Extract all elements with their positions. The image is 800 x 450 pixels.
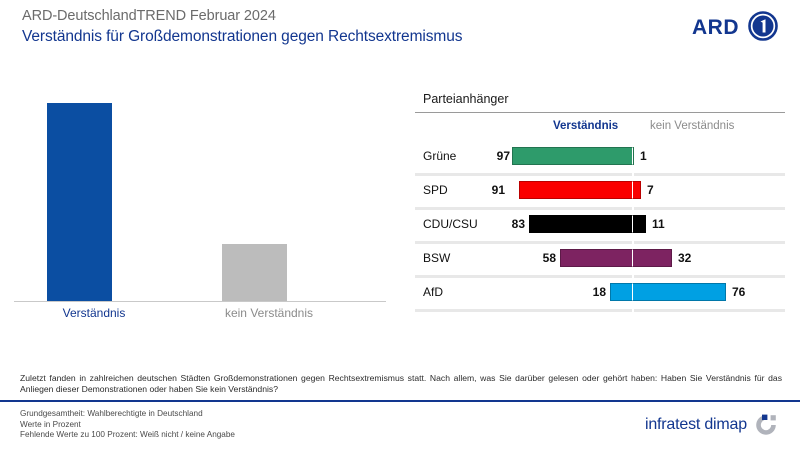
party-panel: Parteianhänger Verständnis kein Verständ… — [415, 92, 785, 312]
party-row-bsw: BSW 58 32 — [415, 241, 785, 275]
legend-item-verstaendnis: Verständnis — [553, 120, 618, 132]
page-title: Verständnis für Großdemonstrationen gege… — [22, 28, 462, 46]
party-row-afd: AfD 18 76 — [415, 275, 785, 309]
party-right-value-gruene: 1 — [640, 149, 647, 163]
chart-baseline — [14, 301, 386, 302]
party-label-afd: AfD — [423, 285, 443, 299]
party-right-value-afd: 76 — [732, 285, 745, 299]
party-right-value-spd: 7 — [647, 183, 654, 197]
row-separator — [415, 207, 785, 210]
row-separator — [415, 275, 785, 278]
party-label-bsw: BSW — [423, 251, 450, 265]
party-left-value-bsw: 58 — [501, 251, 556, 265]
survey-question: Zuletzt fanden in zahlreichen deutschen … — [20, 373, 782, 395]
party-left-bar-spd — [519, 181, 632, 199]
chart-axis-labels: Verständnis kein Verständnis — [14, 304, 386, 324]
party-left-value-afd: 18 — [551, 285, 606, 299]
legend-item-kein-verstaendnis: kein Verständnis — [650, 120, 734, 132]
party-left-bar-gruene — [512, 147, 632, 165]
party-right-bar-cducsu — [632, 215, 646, 233]
header-kicker: ARD-DeutschlandTREND Februar 2024 — [22, 8, 276, 24]
party-row-spd: SPD 91 7 — [415, 173, 785, 207]
svg-text:ARD: ARD — [692, 16, 739, 39]
party-left-value-spd: 91 — [450, 183, 505, 197]
party-right-value-cducsu: 11 — [652, 217, 665, 231]
infratest-dimap-label: infratest dimap — [645, 416, 747, 434]
footer-notes: Grundgesamtheit: Wahlberechtigte in Deut… — [20, 409, 235, 441]
bar-kein-verstaendnis — [222, 244, 287, 301]
party-right-bar-gruene — [632, 147, 634, 165]
footer-divider — [0, 400, 800, 402]
party-right-bar-spd — [632, 181, 641, 199]
bar-label-1: kein Verständnis — [194, 306, 344, 320]
party-label-gruene: Grüne — [423, 149, 456, 163]
party-panel-title: Parteianhänger — [415, 92, 785, 112]
ard-logo: ARD — [692, 11, 784, 41]
party-left-value-cducsu: 83 — [470, 217, 525, 231]
ard-logo-icon: ARD — [692, 11, 784, 41]
bar-verstaendnis — [47, 103, 112, 301]
bar-label-0: Verständnis — [19, 306, 169, 320]
row-separator — [415, 173, 785, 176]
party-left-bar-afd — [610, 283, 632, 301]
party-left-bar-cducsu — [529, 215, 632, 233]
main-bar-chart: 72 21 Verständnis kein Verständnis — [0, 100, 400, 340]
party-left-bar-bsw — [560, 249, 632, 267]
party-panel-legend: Verständnis kein Verständnis — [415, 113, 785, 139]
dimap-mark-icon — [753, 412, 779, 438]
party-right-bar-afd — [632, 283, 726, 301]
infratest-dimap-logo: infratest dimap — [645, 412, 779, 438]
footer-note-1: Werte in Prozent — [20, 420, 235, 431]
party-row-cducsu: CDU/CSU 83 11 — [415, 207, 785, 241]
row-separator — [415, 241, 785, 244]
party-right-bar-bsw — [632, 249, 672, 267]
footer-note-2: Fehlende Werte zu 100 Prozent: Weiß nich… — [20, 430, 235, 441]
party-left-value-gruene: 97 — [455, 149, 510, 163]
page-header: ARD-DeutschlandTREND Februar 2024 Verstä… — [0, 0, 800, 58]
footer-note-0: Grundgesamtheit: Wahlberechtigte in Deut… — [20, 409, 235, 420]
party-right-value-bsw: 32 — [678, 251, 691, 265]
party-row-gruene: Grüne 97 1 — [415, 139, 785, 173]
row-separator-bottom — [415, 309, 785, 312]
party-label-spd: SPD — [423, 183, 448, 197]
